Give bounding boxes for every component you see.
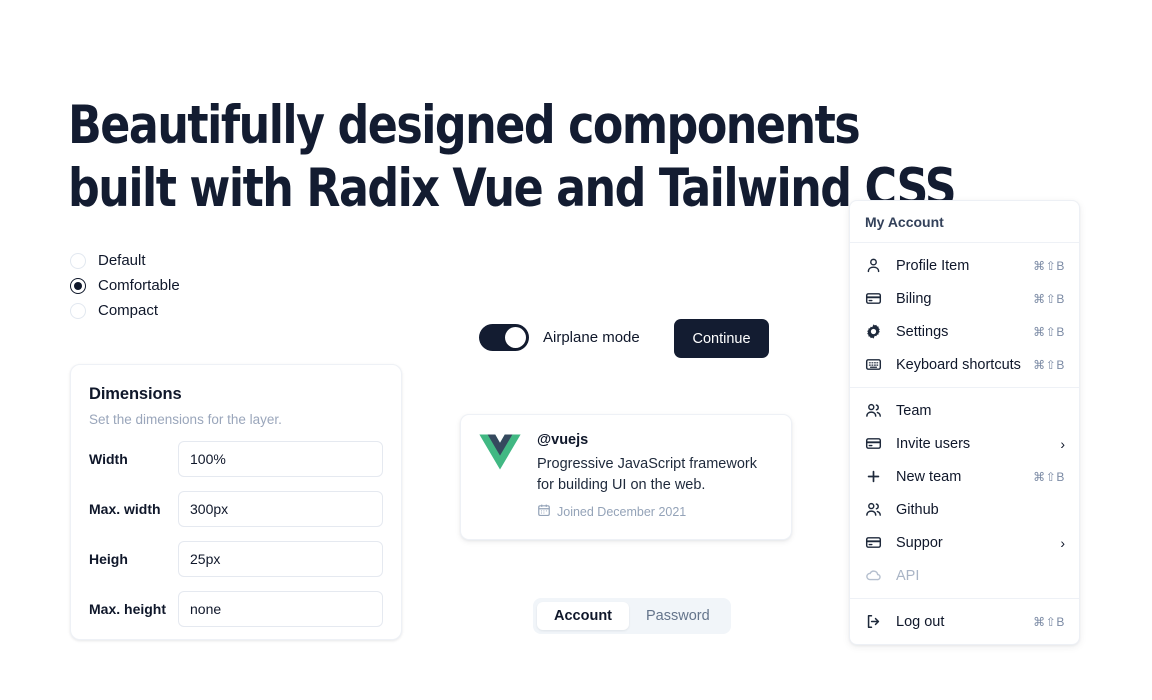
- menu-header: My Account: [850, 201, 1079, 242]
- menu-item-label: New team: [896, 469, 1033, 485]
- menu-group: TeamInvite users›New team⌘⇧BGithubSuppor…: [850, 388, 1079, 598]
- menu-item-label: Invite users: [896, 436, 1060, 452]
- page-title-line-2: built with Radix Vue and Tailwind CSS: [68, 157, 961, 220]
- chevron-right-icon: ›: [1060, 536, 1065, 550]
- dimensions-row: Max. height: [89, 591, 383, 627]
- credit-card-icon: [864, 434, 883, 453]
- menu-item-shortcut: ⌘⇧B: [1033, 358, 1065, 372]
- menu-item-biling[interactable]: Biling⌘⇧B: [850, 282, 1079, 315]
- dimensions-row: Width: [89, 441, 383, 477]
- chevron-right-icon: ›: [1060, 437, 1065, 451]
- dimensions-label-width: Width: [89, 451, 178, 467]
- menu-item-invite-users[interactable]: Invite users›: [850, 427, 1079, 460]
- cloud-icon: [864, 566, 883, 585]
- menu-item-suppor[interactable]: Suppor›: [850, 526, 1079, 559]
- menu-groups: Profile Item⌘⇧BBiling⌘⇧BSettings⌘⇧BKeybo…: [850, 243, 1079, 644]
- menu-item-label: Team: [896, 403, 1065, 419]
- menu-item-shortcut: ⌘⇧B: [1033, 259, 1065, 273]
- hover-card-joined: Joined December 2021: [537, 503, 773, 520]
- switch-knob: [505, 327, 526, 348]
- dimensions-input-width[interactable]: [178, 441, 383, 477]
- logout-icon: [864, 612, 883, 631]
- dimensions-card: Dimensions Set the dimensions for the la…: [70, 364, 402, 640]
- menu-item-label: Keyboard shortcuts: [896, 357, 1033, 373]
- airplane-mode-switch[interactable]: [479, 324, 529, 351]
- tab-account[interactable]: Account: [537, 602, 629, 630]
- users-icon: [864, 500, 883, 519]
- menu-item-label: Settings: [896, 324, 1033, 340]
- menu-item-label: Github: [896, 502, 1065, 518]
- menu-item-shortcut: ⌘⇧B: [1033, 292, 1065, 306]
- dimensions-subtitle: Set the dimensions for the layer.: [89, 412, 383, 427]
- airplane-mode-row: Airplane mode: [479, 324, 640, 351]
- menu-item-log-out[interactable]: Log out⌘⇧B: [850, 605, 1079, 638]
- continue-button[interactable]: Continue: [674, 319, 769, 358]
- airplane-mode-label: Airplane mode: [543, 329, 640, 346]
- keyboard-icon: [864, 355, 883, 374]
- dimensions-fields: WidthMax. widthHeighMax. height: [89, 441, 383, 627]
- hover-card-handle: @vuejs: [537, 432, 773, 448]
- tab-password[interactable]: Password: [629, 602, 727, 630]
- dimensions-title: Dimensions: [89, 385, 383, 404]
- menu-item-label: Log out: [896, 614, 1033, 630]
- hover-card-description: Progressive JavaScript framework for bui…: [537, 454, 773, 496]
- menu-item-new-team[interactable]: New team⌘⇧B: [850, 460, 1079, 493]
- menu-item-shortcut: ⌘⇧B: [1033, 615, 1065, 629]
- page-root: Beautifully designed components built wi…: [0, 0, 1152, 700]
- menu-item-profile-item[interactable]: Profile Item⌘⇧B: [850, 249, 1079, 282]
- dimensions-label-max-width: Max. width: [89, 501, 178, 517]
- dimensions-label-heigh: Heigh: [89, 551, 178, 567]
- dimensions-row: Max. width: [89, 491, 383, 527]
- radio-group: DefaultComfortableCompact: [70, 248, 180, 323]
- menu-item-settings[interactable]: Settings⌘⇧B: [850, 315, 1079, 348]
- dimensions-label-max-height: Max. height: [89, 601, 178, 617]
- menu-item-label: Profile Item: [896, 258, 1033, 274]
- menu-group: Log out⌘⇧B: [850, 599, 1079, 644]
- radio-indicator[interactable]: [70, 278, 86, 294]
- menu-item-label: Suppor: [896, 535, 1060, 551]
- menu-group: Profile Item⌘⇧BBiling⌘⇧BSettings⌘⇧BKeybo…: [850, 243, 1079, 387]
- dimensions-input-max-width[interactable]: [178, 491, 383, 527]
- tab-list: AccountPassword: [533, 598, 731, 634]
- radio-option-comfortable[interactable]: Comfortable: [70, 273, 180, 298]
- page-title: Beautifully designed components built wi…: [68, 94, 961, 220]
- credit-card-icon: [864, 289, 883, 308]
- users-icon: [864, 401, 883, 420]
- menu-item-api: API: [850, 559, 1079, 592]
- radio-option-compact[interactable]: Compact: [70, 298, 180, 323]
- dimensions-input-heigh[interactable]: [178, 541, 383, 577]
- menu-item-keyboard-shortcuts[interactable]: Keyboard shortcuts⌘⇧B: [850, 348, 1079, 381]
- menu-item-shortcut: ⌘⇧B: [1033, 470, 1065, 484]
- radio-option-label: Default: [98, 252, 146, 269]
- plus-icon: [864, 467, 883, 486]
- hover-card-body: @vuejs Progressive JavaScript framework …: [537, 432, 773, 522]
- hover-card-joined-label: Joined December 2021: [557, 505, 686, 519]
- user-icon: [864, 256, 883, 275]
- radio-indicator[interactable]: [70, 303, 86, 319]
- credit-card-icon: [864, 533, 883, 552]
- account-dropdown-menu: My Account Profile Item⌘⇧BBiling⌘⇧BSetti…: [849, 200, 1080, 645]
- calendar-icon: [537, 503, 557, 520]
- radio-option-default[interactable]: Default: [70, 248, 180, 273]
- menu-item-team[interactable]: Team: [850, 394, 1079, 427]
- page-title-line-1: Beautifully designed components: [68, 94, 961, 157]
- vue-logo-icon: [479, 434, 521, 474]
- radio-option-label: Compact: [98, 302, 158, 319]
- radio-option-label: Comfortable: [98, 277, 180, 294]
- gear-icon: [864, 322, 883, 341]
- menu-item-shortcut: ⌘⇧B: [1033, 325, 1065, 339]
- menu-item-label: Biling: [896, 291, 1033, 307]
- menu-item-github[interactable]: Github: [850, 493, 1079, 526]
- menu-item-label: API: [896, 568, 1065, 584]
- dimensions-row: Heigh: [89, 541, 383, 577]
- radio-indicator[interactable]: [70, 253, 86, 269]
- hover-card: @vuejs Progressive JavaScript framework …: [460, 414, 792, 540]
- dimensions-input-max-height[interactable]: [178, 591, 383, 627]
